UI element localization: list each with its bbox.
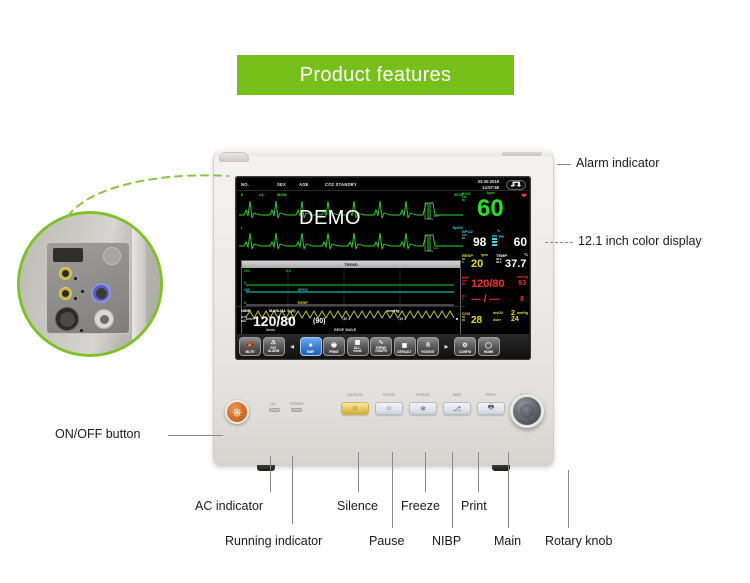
nibp-bar-units: SYS DIA	[241, 315, 247, 323]
trend-resp-top: 0	[244, 301, 246, 305]
spo2-unit: %	[497, 229, 500, 233]
cuff-icon: ⎇	[453, 405, 461, 413]
cuff-icon: ■	[309, 343, 313, 350]
inset-leader-line	[60, 170, 240, 230]
page-title: Product features	[300, 64, 452, 87]
leader-running	[292, 456, 293, 524]
vent-slot	[502, 152, 542, 156]
softbtn-pat-alarm[interactable]: ⚠ PAT ALARM	[263, 337, 285, 356]
softbtn-nibp-label: NIBP	[307, 350, 315, 354]
waveform-zone: II x1 MON ECG 1mv I SpO2	[237, 191, 465, 257]
key-freeze[interactable]: ❄	[409, 402, 437, 415]
key-nibp-label: NIBP	[443, 393, 471, 397]
topbar-age: AGE	[299, 182, 309, 187]
printer-icon: 🖶	[488, 403, 495, 414]
param-ibp-1[interactable]: IBP mmHg 160 90 120/80 93	[461, 275, 529, 293]
key-print[interactable]: 🖶	[477, 402, 505, 415]
topbar-datetime: 03-30-2018 14:57:58	[478, 179, 499, 190]
annotation-ac-indicator: AC indicator	[195, 499, 263, 513]
ibp2-map: 8	[520, 296, 524, 303]
softbtn-patient[interactable]: ☃ PATIENT	[417, 337, 439, 356]
ibp1-value: 120/80	[471, 278, 505, 290]
header-banner: Product features	[237, 55, 514, 95]
ibp-port[interactable]	[91, 283, 111, 303]
running-indicator-label: POWER	[290, 402, 304, 406]
printer-icon: 🖶	[331, 343, 337, 350]
softbtn-home-label: HOME	[484, 350, 494, 354]
softbtn-all-trend[interactable]: ▦ ALL- trend	[347, 337, 369, 356]
leader-display	[545, 242, 573, 243]
resp-unit: rpm	[481, 253, 488, 257]
nibp-bar-value: 120/80	[253, 313, 296, 329]
patient-icon: ☃	[425, 343, 430, 350]
topbar-patient-no: NO.	[241, 182, 249, 187]
inset-device-edge	[132, 214, 146, 354]
demo-watermark: DEMO	[299, 207, 361, 230]
nibp-summary-bar[interactable]: NIBP MANUAL 0 (0) SYS DIA 120/80 (90) mm…	[237, 306, 465, 332]
annotation-running-indicator: Running indicator	[225, 534, 322, 548]
softbtn-print-label: PRINT	[329, 350, 339, 354]
co2-awrr-label: Awrr	[493, 318, 501, 322]
nibp-bar-unit: mmHg	[387, 308, 399, 313]
temp-port-1[interactable]	[59, 267, 72, 280]
annotation-pause: Pause	[369, 534, 404, 548]
co2-unit: mmHg	[517, 311, 528, 315]
ac-indicator-label: AC	[271, 402, 276, 406]
silence-icon: ☺	[351, 405, 358, 412]
nibp-bar-map: (90)	[313, 318, 325, 325]
lcd-bezel: NO. SEX AGE CO2 STANDBY 03-30-2018 14:57…	[235, 176, 531, 360]
softbtn-config-label: CONFIG	[459, 350, 471, 354]
svg-text:1mv: 1mv	[433, 214, 439, 218]
running-indicator-led	[291, 408, 302, 412]
leader-silence	[358, 452, 359, 492]
parameter-column: ECG bpm 120 50 ❤ 60 SPO2 % 100 90 98 PR …	[461, 191, 529, 346]
spo2-port[interactable]	[94, 309, 114, 329]
annotation-display: 12.1 inch color display	[578, 234, 702, 248]
key-silence[interactable]: ☺	[341, 402, 369, 415]
pause-icon: ☺	[385, 405, 392, 412]
key-freeze-label: FREEZE	[409, 393, 437, 397]
ibp1-map: 93	[518, 280, 526, 287]
key-pause[interactable]: ☺	[375, 402, 403, 415]
reset-icon: ▣	[402, 343, 408, 350]
leader-alarm	[557, 164, 571, 165]
freeze-icon: ❄	[420, 405, 426, 413]
key-nibp[interactable]: ⎇	[443, 402, 471, 415]
softbtn-patient-label: PATIENT	[421, 350, 434, 354]
inset-background	[20, 214, 160, 354]
soft-button-row: 🔕 MUTE ⚠ PAT ALARM ◂ ■ NIBP 🖶 PRINT ▦	[237, 334, 529, 358]
nibp-bar-label: NIBP	[241, 308, 251, 313]
leader-nibp	[452, 452, 453, 528]
annotation-silence: Silence	[337, 499, 378, 513]
annotation-alarm-indicator: Alarm indicator	[576, 156, 659, 170]
monitor-topbar: NO. SEX AGE CO2 STANDBY 03-30-2018 14:57…	[237, 178, 529, 191]
chevron-left-icon[interactable]: ◂	[286, 337, 298, 356]
device-foot-left	[257, 465, 275, 471]
ecg-value: 60	[477, 195, 504, 223]
ecg-limits: 120 50	[462, 196, 467, 202]
temp-unit: °C	[524, 253, 528, 257]
leader-print	[478, 452, 479, 492]
topbar-time: 14:57:58	[478, 185, 499, 191]
annotation-print: Print	[461, 499, 487, 513]
leader-onoff	[168, 435, 223, 436]
softbtn-home[interactable]: ◯ HOME	[478, 337, 500, 356]
annotation-rotary-knob: Rotary knob	[545, 534, 612, 548]
softbtn-mute[interactable]: 🔕 MUTE	[239, 337, 261, 356]
ac-indicator-led	[269, 408, 280, 412]
annotation-freeze: Freeze	[401, 499, 440, 513]
softbtn-pat-alarm-label: PAT ALARM	[268, 347, 280, 353]
co2-value: 28	[471, 315, 482, 326]
connector-panel-closeup	[17, 211, 163, 357]
softbtn-config[interactable]: ⚙ CONFIG	[454, 337, 476, 356]
topbar-co2-status: CO2 STANDBY	[325, 182, 357, 187]
ibp1-limits: 160 90	[462, 280, 467, 286]
spo2-pr-value: 60	[514, 235, 527, 249]
connector-plate	[46, 242, 130, 334]
trend-hr-mark: 0.0	[286, 269, 291, 273]
spo2-pr-label: PR	[499, 235, 504, 239]
softbtn-print[interactable]: 🖶 PRINT	[323, 337, 345, 356]
topbar-sex: SEX	[277, 182, 286, 187]
spo2-limits: 100 90	[462, 234, 467, 240]
leader-freeze	[425, 452, 426, 492]
softbtn-default[interactable]: ▣ DEFAULT	[394, 337, 416, 356]
co2-awrr-value: 24	[511, 316, 519, 323]
softbtn-all-trend-label: ALL- trend	[354, 347, 362, 353]
svg-text:1mv: 1mv	[433, 246, 439, 250]
leader-pause	[392, 452, 393, 528]
chevron-right-icon[interactable]: ▸	[441, 337, 453, 356]
softbtn-trend-graph-label: TREND GRAPH	[375, 347, 387, 353]
ecg-port[interactable]	[55, 307, 79, 331]
softbtn-trend-graph[interactable]: ∿ TREND GRAPH	[370, 337, 392, 356]
spo2-value: 98	[473, 235, 486, 249]
softbtn-default-label: DEFAULT	[397, 350, 411, 354]
param-co2[interactable]: CO2 mmHg 50 20 28 InsO2 2 Awrr 24	[461, 311, 529, 333]
softbtn-nibp[interactable]: ■ NIBP	[300, 337, 322, 356]
ibp1-unit: mmHg	[517, 275, 528, 279]
rotary-knob[interactable]	[510, 394, 544, 428]
annotation-nibp: NIBP	[432, 534, 461, 548]
key-print-label: PRINT	[477, 393, 505, 397]
topbar-date: 03-30-2018	[478, 179, 499, 185]
trend-spo2-label: SPO2	[298, 288, 308, 292]
param-ecg[interactable]: ECG bpm 120 50 ❤ 60	[461, 191, 529, 229]
lcd-screen[interactable]: NO. SEX AGE CO2 STANDBY 03-30-2018 14:57…	[237, 178, 529, 358]
ibp2-value: --- / ---	[471, 294, 499, 305]
heart-icon: ❤	[521, 192, 527, 200]
annotation-onoff: ON/OFF button	[55, 427, 140, 441]
label-plate	[53, 248, 83, 262]
leader-main	[508, 452, 509, 528]
leader-knob	[568, 470, 569, 528]
key-pause-label: PAUSE	[375, 393, 403, 397]
alarm-indicator-lamp	[219, 152, 249, 162]
config-icon: ⚙	[462, 343, 467, 350]
resp-limits: 30 8	[462, 258, 465, 264]
spo2-bargraph	[492, 234, 497, 248]
leader-ac	[270, 456, 271, 492]
annotation-main: Main	[494, 534, 521, 548]
softbtn-mute-label: MUTE	[245, 350, 254, 354]
trend-spo2-top: 100	[244, 288, 250, 292]
trend-hr-bottom: 0	[244, 281, 246, 285]
co2-inso2-label: InsO2	[493, 311, 503, 315]
temp-value: 37.7	[505, 258, 526, 270]
trend-hr-top: 200	[244, 269, 250, 273]
trend-resp-label: RESP	[298, 301, 308, 305]
param-spo2[interactable]: SPO2 % 100 90 98 PR 60	[461, 229, 529, 253]
power-button[interactable]: ⎈	[225, 400, 249, 424]
power-icon: ⎈	[232, 405, 242, 420]
trend-title: TREND	[242, 261, 460, 268]
network-icon[interactable]	[506, 180, 526, 190]
key-silence-label: SILENCE	[341, 393, 369, 397]
blank-port	[103, 247, 121, 265]
temp-limits: 39.0 36.0	[496, 258, 501, 264]
resp-value: 20	[471, 258, 483, 270]
control-panel: ⎈ AC POWER ☺ SILENCE ☺ PAUSE ❄ FREEZE ⎇ …	[213, 372, 554, 466]
ibp2-limits: 20 0	[462, 295, 465, 301]
temp-port-2[interactable]	[59, 287, 72, 300]
patient-monitor-device: NO. SEX AGE CO2 STANDBY 03-30-2018 14:57…	[213, 148, 554, 466]
home-icon: ◯	[485, 343, 492, 350]
param-resp-temp[interactable]: RESP rpm 30 8 20 TEMP °C 39.0 36.0 37.7	[461, 253, 529, 275]
bell-slash-icon: 🔕	[246, 343, 253, 350]
param-ibp-2[interactable]: 20 0 --- / --- 8	[461, 293, 529, 311]
